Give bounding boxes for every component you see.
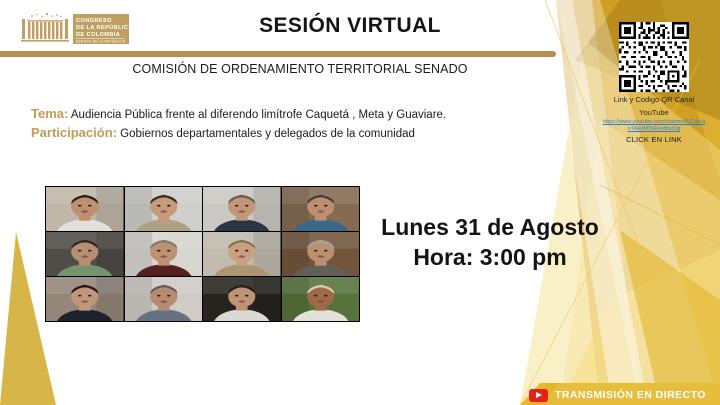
video-tile[interactable] bbox=[282, 277, 360, 321]
video-tile[interactable] bbox=[46, 232, 124, 276]
participant-1 bbox=[46, 187, 124, 231]
tema-line: Tema: Audiencia Pública frente al difere… bbox=[31, 106, 446, 121]
video-tile[interactable] bbox=[203, 277, 281, 321]
youtube-play-icon bbox=[529, 389, 548, 402]
participacion-value: Gobiernos departamentales y delegados de… bbox=[120, 128, 415, 140]
session-date: Lunes 31 de Agosto bbox=[370, 212, 610, 242]
youtube-channel-link[interactable]: https://www.youtube.com/channel/UCda-bxT… bbox=[600, 119, 708, 133]
commission-subtitle: COMISIÓN DE ORDENAMIENTO TERRITORIAL SEN… bbox=[60, 62, 540, 76]
qr-code-icon[interactable] bbox=[619, 22, 689, 92]
participacion-label: Participación: bbox=[31, 125, 117, 140]
click-en-link-label: CLICK EN LINK bbox=[600, 135, 708, 144]
participant-8 bbox=[282, 232, 360, 276]
video-tile[interactable] bbox=[203, 187, 281, 231]
video-tile[interactable] bbox=[282, 232, 360, 276]
session-time: Hora: 3:00 pm bbox=[370, 242, 610, 272]
participant-11 bbox=[203, 277, 281, 321]
qr-caption-line2: YouTube bbox=[600, 108, 708, 118]
congress-logo: CONGRESO DE LA REPÚBLICA DE COLOMBIA SEN… bbox=[19, 8, 131, 50]
svg-text:DE COLOMBIA: DE COLOMBIA bbox=[76, 32, 120, 38]
qr-panel[interactable]: Link y Codigo QR Canal YouTube https://w… bbox=[600, 22, 708, 144]
congress-building-icon: CONGRESO DE LA REPÚBLICA DE COLOMBIA SEN… bbox=[19, 8, 131, 50]
video-tile[interactable] bbox=[46, 187, 124, 231]
video-tile[interactable] bbox=[203, 232, 281, 276]
video-conference-grid[interactable] bbox=[45, 186, 360, 322]
participant-4 bbox=[282, 187, 360, 231]
qr-caption-line1: Link y Codigo QR Canal bbox=[600, 95, 708, 105]
participant-9 bbox=[46, 277, 124, 321]
gold-divider bbox=[0, 51, 556, 57]
tema-label: Tema: bbox=[31, 106, 68, 121]
participacion-line: Participación: Gobiernos departamentales… bbox=[31, 125, 415, 140]
page-title: SESIÓN VIRTUAL bbox=[150, 14, 550, 38]
schedule-block: Lunes 31 de Agosto Hora: 3:00 pm bbox=[370, 212, 610, 272]
svg-text:SENADO DE LA REPÚBLICA: SENADO DE LA REPÚBLICA bbox=[76, 40, 126, 44]
svg-text:DE LA REPÚBLICA: DE LA REPÚBLICA bbox=[76, 24, 131, 31]
video-tile[interactable] bbox=[46, 277, 124, 321]
video-tile[interactable] bbox=[125, 277, 203, 321]
participant-12 bbox=[282, 277, 360, 321]
participant-5 bbox=[46, 232, 124, 276]
live-transmission-banner[interactable]: TRANSMISIÓN EN DIRECTO bbox=[529, 385, 706, 405]
participant-2 bbox=[125, 187, 203, 231]
svg-text:CONGRESO: CONGRESO bbox=[76, 18, 112, 24]
participant-3 bbox=[203, 187, 281, 231]
participant-7 bbox=[203, 232, 281, 276]
video-tile[interactable] bbox=[125, 232, 203, 276]
participant-6 bbox=[125, 232, 203, 276]
participant-10 bbox=[125, 277, 203, 321]
tema-value: Audiencia Pública frente al diferendo li… bbox=[71, 109, 446, 121]
live-transmission-label: TRANSMISIÓN EN DIRECTO bbox=[555, 389, 706, 401]
presentation-slide: CONGRESO DE LA REPÚBLICA DE COLOMBIA SEN… bbox=[0, 0, 720, 405]
video-tile[interactable] bbox=[125, 187, 203, 231]
video-tile[interactable] bbox=[282, 187, 360, 231]
